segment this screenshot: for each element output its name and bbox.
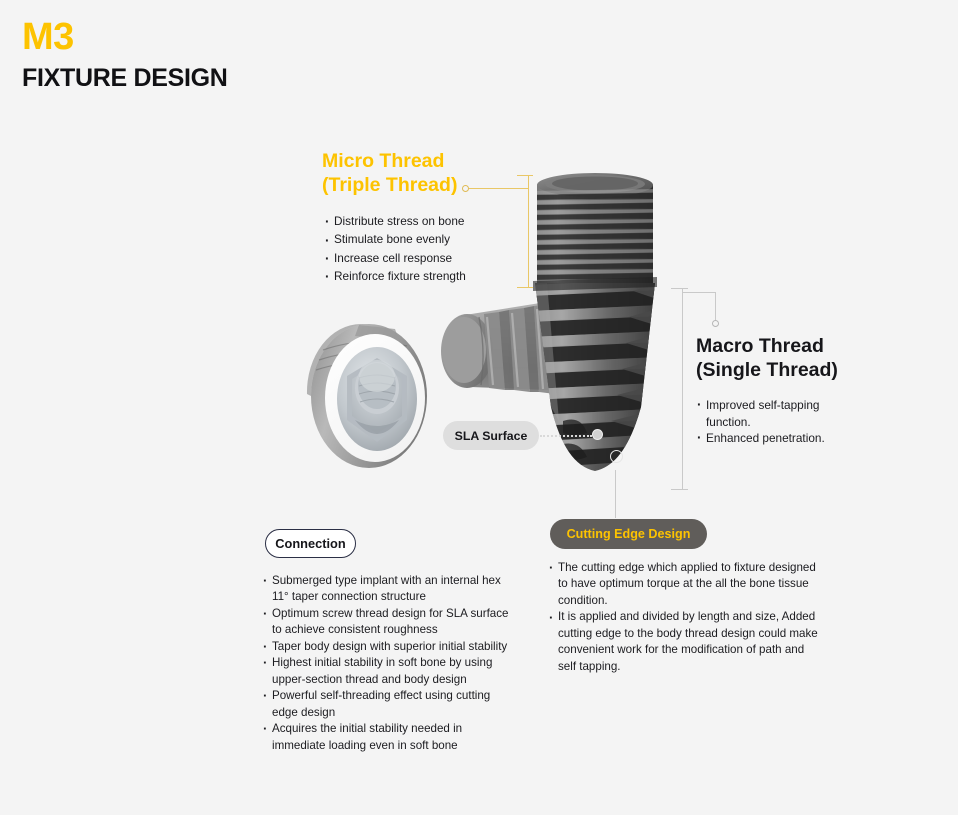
implant-top-view-image (303, 316, 447, 474)
list-item: Optimum screw thread design for SLA surf… (263, 606, 515, 639)
cutting-edge-bullet-list: The cutting edge which applied to fixtur… (549, 560, 824, 675)
list-item: Stimulate bone evenly (325, 230, 466, 248)
micro-thread-leader-dot (462, 185, 469, 192)
micro-thread-bracket-cap-bottom (517, 287, 533, 288)
sla-surface-leader-line (540, 435, 592, 437)
list-item: Acquires the initial stability needed in… (263, 721, 515, 754)
connection-label: Connection (265, 529, 356, 558)
macro-thread-bracket-cap-top (671, 288, 688, 289)
list-item: Submerged type implant with an internal … (263, 573, 515, 606)
connection-bullet-list: Submerged type implant with an internal … (263, 573, 515, 754)
fixture-design-page: M3 FIXTURE DESIGN (0, 0, 958, 815)
list-item: Powerful self-threading effect using cut… (263, 688, 515, 721)
list-item: Taper body design with superior initial … (263, 639, 515, 655)
list-item: The cutting edge which applied to fixtur… (549, 560, 824, 609)
micro-thread-title: Micro Thread (Triple Thread) (322, 150, 457, 197)
micro-thread-bullet-list: Distribute stress on bone Stimulate bone… (325, 212, 466, 286)
macro-thread-leader-dot (712, 320, 719, 327)
list-item: It is applied and divided by length and … (549, 609, 824, 675)
page-title-m3: M3 (22, 18, 74, 56)
sla-surface-marker (592, 429, 603, 440)
sla-surface-label: SLA Surface (443, 421, 539, 450)
macro-thread-bracket-stem (682, 288, 683, 490)
list-item: Reinforce fixture strength (325, 267, 466, 285)
list-item: Increase cell response (325, 249, 466, 267)
micro-thread-bracket-cap-top (517, 175, 533, 176)
list-item: Distribute stress on bone (325, 212, 466, 230)
cutting-edge-label: Cutting Edge Design (550, 519, 707, 549)
macro-thread-leader-horizontal (683, 292, 716, 293)
macro-thread-leader-vertical (715, 292, 716, 321)
cutting-edge-leader-line (615, 470, 616, 518)
page-subtitle: FIXTURE DESIGN (22, 66, 228, 91)
macro-thread-bracket-cap-bottom (671, 489, 688, 490)
macro-thread-title: Macro Thread (Single Thread) (696, 335, 838, 382)
list-item: Enhanced penetration. (697, 430, 847, 447)
micro-thread-bracket-stem (528, 175, 529, 288)
list-item: Improved self-tapping function. (697, 397, 847, 430)
micro-thread-leader-line (469, 188, 529, 189)
cutting-edge-marker (610, 450, 623, 463)
list-item: Highest initial stability in soft bone b… (263, 655, 515, 688)
macro-thread-bullet-list: Improved self-tapping function. Enhanced… (697, 397, 847, 447)
